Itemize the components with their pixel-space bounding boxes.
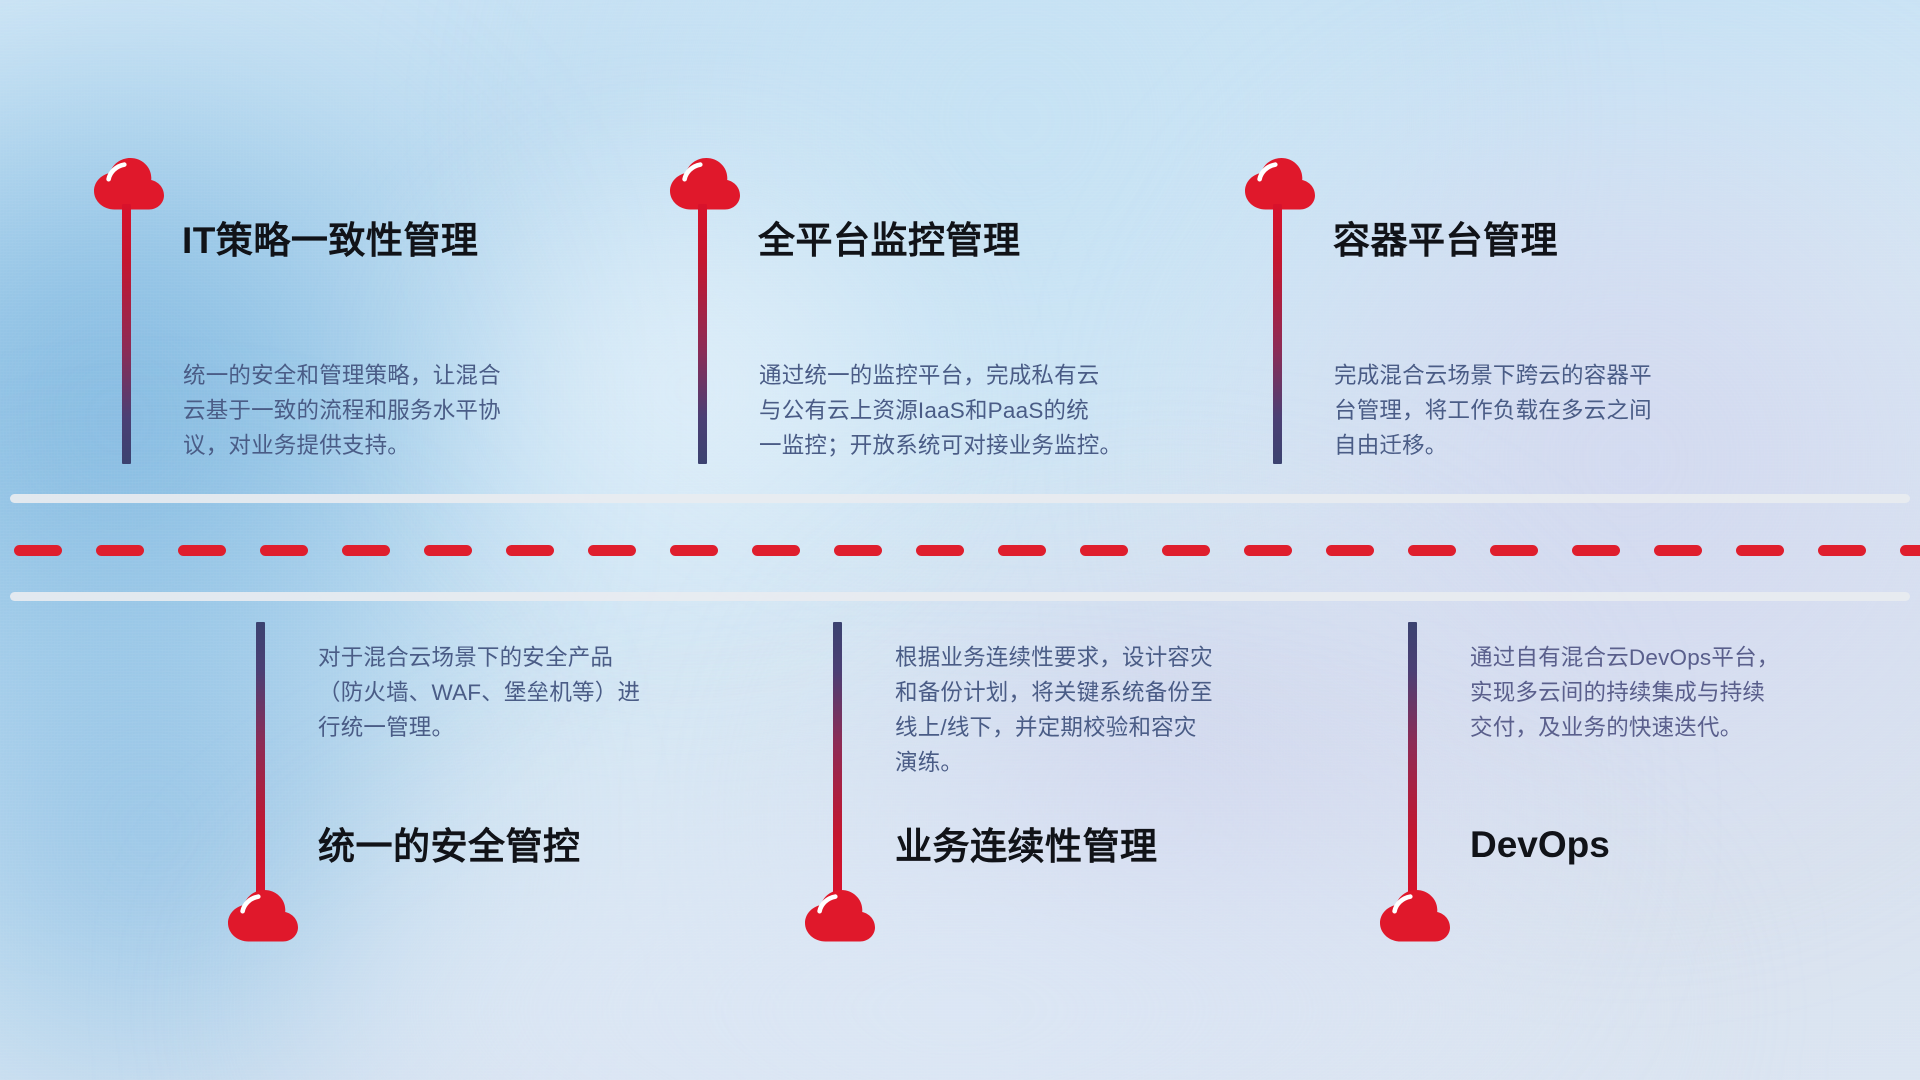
divider-dash — [1572, 545, 1620, 556]
divider-dash — [1080, 545, 1128, 556]
divider-dash — [342, 545, 390, 556]
timeline-stem — [833, 622, 842, 894]
divider-dash — [424, 545, 472, 556]
divider-dash — [1654, 545, 1702, 556]
divider-dash — [1162, 545, 1210, 556]
divider-dash — [1736, 545, 1784, 556]
cloud-icon — [670, 158, 740, 210]
divider-dash — [178, 545, 226, 556]
divider-dash — [1408, 545, 1456, 556]
divider-rule-dashed — [0, 545, 1920, 556]
infographic-canvas: IT策略一致性管理 统一的安全和管理策略，让混合 云基于一致的流程和服务水平协 … — [0, 0, 1920, 1080]
divider-dash — [998, 545, 1046, 556]
divider-dash — [1818, 545, 1866, 556]
timeline-stem — [698, 204, 707, 464]
bottom-item-2-title: 业务连续性管理 — [895, 828, 1158, 865]
timeline-stem — [256, 622, 265, 894]
divider-dash — [506, 545, 554, 556]
divider-dash — [916, 545, 964, 556]
divider-dash — [1900, 545, 1920, 556]
top-item-1-title: IT策略一致性管理 — [182, 222, 478, 259]
timeline-stem — [122, 204, 131, 464]
divider-dash — [670, 545, 718, 556]
top-item-3-title: 容器平台管理 — [1333, 222, 1558, 259]
cloud-icon — [805, 890, 875, 942]
divider-rule-upper — [10, 494, 1910, 503]
divider-dash — [14, 545, 62, 556]
divider-rule-lower — [10, 592, 1910, 601]
bottom-item-3-description: 通过自有混合云DevOps平台， 实现多云间的持续集成与持续 交付，及业务的快速… — [1470, 640, 1900, 745]
top-item-1-description: 统一的安全和管理策略，让混合 云基于一致的流程和服务水平协 议，对业务提供支持。 — [183, 358, 613, 463]
divider-dash — [1490, 545, 1538, 556]
bottom-item-1-title: 统一的安全管控 — [318, 828, 581, 865]
divider-dash — [1326, 545, 1374, 556]
top-item-2-description: 通过统一的监控平台，完成私有云 与公有云上资源IaaS和PaaS的统 一监控；开… — [759, 358, 1199, 463]
divider-dash — [588, 545, 636, 556]
timeline-stem — [1408, 622, 1417, 894]
divider-dash — [834, 545, 882, 556]
timeline-stem — [1273, 204, 1282, 464]
bottom-item-2-description: 根据业务连续性要求，设计容灾 和备份计划，将关键系统备份至 线上/线下，并定期校… — [895, 640, 1325, 780]
cloud-icon — [228, 890, 298, 942]
cloud-icon — [94, 158, 164, 210]
divider-dash — [752, 545, 800, 556]
divider-dash — [260, 545, 308, 556]
cloud-icon — [1245, 158, 1315, 210]
top-item-3-description: 完成混合云场景下跨云的容器平 台管理，将工作负载在多云之间 自由迁移。 — [1334, 358, 1764, 463]
cloud-icon — [1380, 890, 1450, 942]
divider-dash — [96, 545, 144, 556]
bottom-item-1-description: 对于混合云场景下的安全产品 （防火墙、WAF、堡垒机等）进 行统一管理。 — [318, 640, 748, 745]
top-item-2-title: 全平台监控管理 — [758, 222, 1021, 259]
bottom-item-3-title: DevOps — [1470, 826, 1610, 863]
divider-dash — [1244, 545, 1292, 556]
